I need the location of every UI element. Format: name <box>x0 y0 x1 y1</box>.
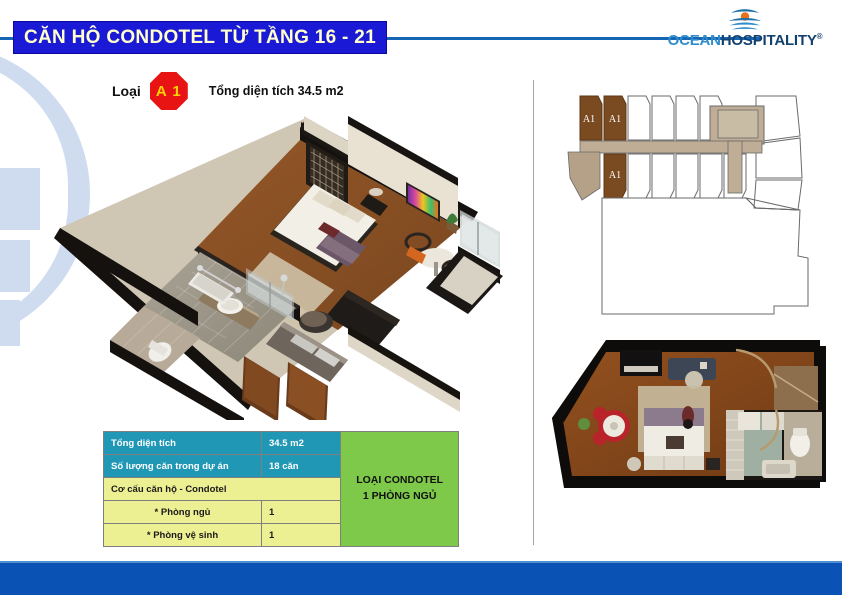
decor-arc-3 <box>0 240 30 292</box>
page-title: CĂN HỘ CONDOTEL TỪ TẦNG 16 - 21 <box>24 28 376 47</box>
brand-logo: OCEANHOSPITALITY® <box>660 8 830 56</box>
spec-value: 34.5 m2 <box>262 432 341 455</box>
table-row: Tổng diện tích 34.5 m2 LOẠI CONDOTEL 1 P… <box>104 432 459 455</box>
footer-bar <box>0 563 842 595</box>
decor-arc-2 <box>0 168 40 230</box>
condotel-callout: LOẠI CONDOTEL 1 PHÒNG NGỦ <box>341 432 459 547</box>
logo-ocean-text: OCEAN <box>668 32 721 49</box>
spec-label: * Phòng vệ sinh <box>104 524 262 547</box>
spec-value: 1 <box>262 524 341 547</box>
callout-line-2: 1 PHÒNG NGỦ <box>348 489 451 505</box>
unit-type-header: Loại A 1 Tổng diện tích 34.5 m2 <box>112 72 344 110</box>
kitchen-counter <box>620 350 662 376</box>
unit-area-caption: Tổng diện tích 34.5 m2 <box>209 84 344 98</box>
spec-label: Cơ cấu căn hộ - Condotel <box>104 478 341 501</box>
wave-sun-icon <box>728 8 762 32</box>
spec-value: 18 căn <box>262 455 341 478</box>
decor-arc-4 <box>0 300 20 346</box>
keyplan-label-a1: A1 <box>609 170 621 181</box>
column-divider <box>533 80 534 545</box>
spec-label: Số lượng căn trong dự án <box>104 455 262 478</box>
unit-type-badge: A 1 <box>150 72 188 110</box>
top-down-floor-plan <box>548 332 836 502</box>
isometric-apartment-render <box>48 100 503 420</box>
page-title-banner: CĂN HỘ CONDOTEL TỪ TẦNG 16 - 21 <box>13 21 387 54</box>
unit-type-label: Loại <box>112 83 141 99</box>
keyplan-label-a1: A1 <box>583 114 595 125</box>
callout-line-1: LOẠI CONDOTEL <box>348 473 451 489</box>
floor-key-plan: A1 A1 A1 <box>560 78 830 318</box>
keyplan-label-a1: A1 <box>609 114 621 125</box>
unit-type-code: A 1 <box>156 83 182 100</box>
spec-label: * Phòng ngủ <box>104 501 262 524</box>
logo-hospitality-text: HOSPITALITY <box>721 32 817 49</box>
logo-wordmark: OCEANHOSPITALITY® <box>660 33 830 48</box>
spec-value: 1 <box>262 501 341 524</box>
spec-label: Tổng diện tích <box>104 432 262 455</box>
registered-mark: ® <box>817 32 823 41</box>
unit-spec-table: Tổng diện tích 34.5 m2 LOẠI CONDOTEL 1 P… <box>103 431 459 547</box>
